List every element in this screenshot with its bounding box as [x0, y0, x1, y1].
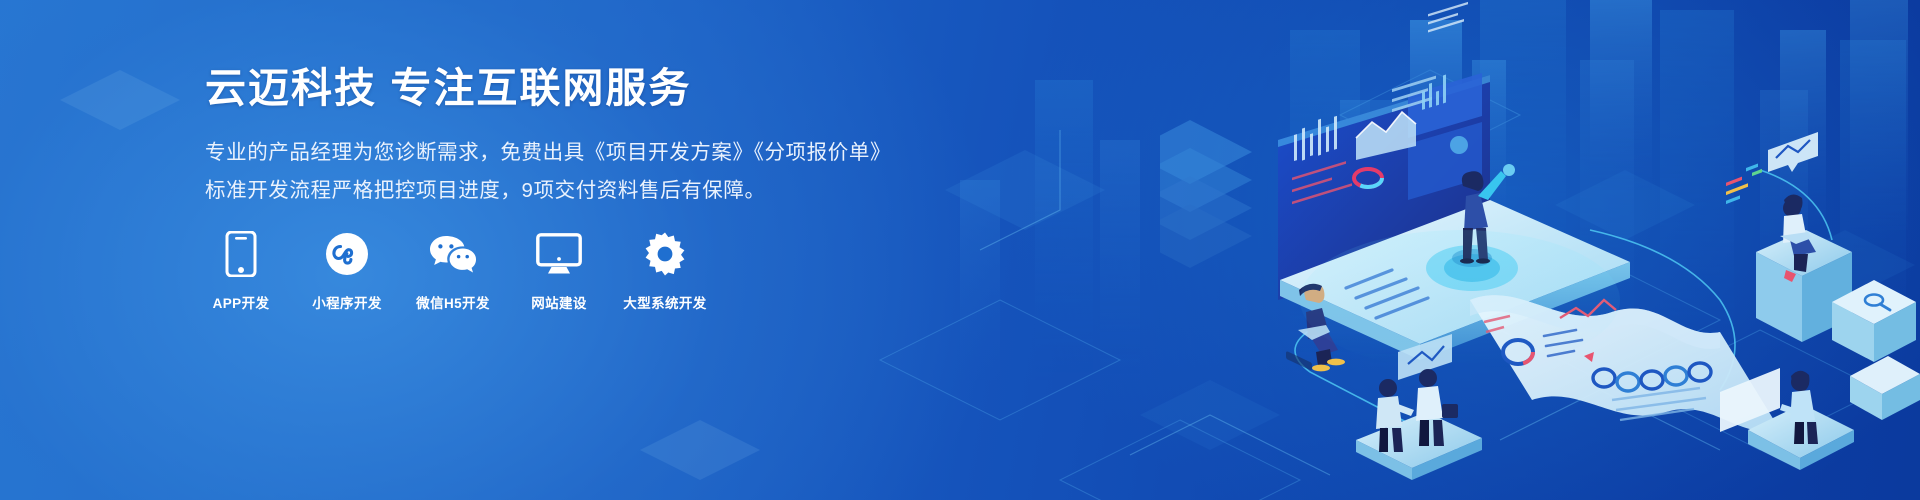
service-item-wechat[interactable]: 微信H5开发: [417, 232, 489, 312]
service-label: 网站建设: [531, 292, 587, 312]
monitor-icon: [536, 232, 582, 276]
service-label: 大型系统开发: [623, 292, 706, 312]
banner-content: 云迈科技 专注互联网服务 专业的产品经理为您诊断需求，免费出具《项目开发方案》《…: [205, 66, 905, 210]
wechat-icon: [428, 232, 478, 276]
page-title: 云迈科技 专注互联网服务: [205, 66, 905, 112]
mini-program-icon: [325, 232, 369, 276]
gear-icon: [643, 232, 687, 276]
service-label: 小程序开发: [312, 292, 382, 312]
subtitle-line-1: 专业的产品经理为您诊断需求，免费出具《项目开发方案》《分项报价单》: [205, 134, 905, 172]
service-item-app[interactable]: APP开发: [205, 232, 277, 312]
banner-subtitle: 专业的产品经理为您诊断需求，免费出具《项目开发方案》《分项报价单》 标准开发流程…: [205, 134, 905, 210]
two-people-platform: [1356, 369, 1482, 480]
isometric-tech-illustration: [1160, 0, 1920, 500]
service-item-website[interactable]: 网站建设: [523, 232, 595, 312]
mobile-phone-icon: [225, 232, 257, 276]
server-tower: [1160, 120, 1252, 268]
service-label: APP开发: [213, 292, 270, 312]
service-item-miniprogram[interactable]: 小程序开发: [311, 232, 383, 312]
subtitle-line-2: 标准开发流程严格把控项目进度，9项交付资料售后有保障。: [205, 172, 905, 210]
service-list: APP开发 小程序开发: [205, 232, 701, 312]
illustration-svg: [1160, 0, 1920, 500]
service-label: 微信H5开发: [416, 292, 490, 312]
hero-banner: 云迈科技 专注互联网服务 专业的产品经理为您诊断需求，免费出具《项目开发方案》《…: [0, 0, 1920, 500]
open-box: [1850, 356, 1920, 420]
service-item-system[interactable]: 大型系统开发: [629, 232, 701, 312]
